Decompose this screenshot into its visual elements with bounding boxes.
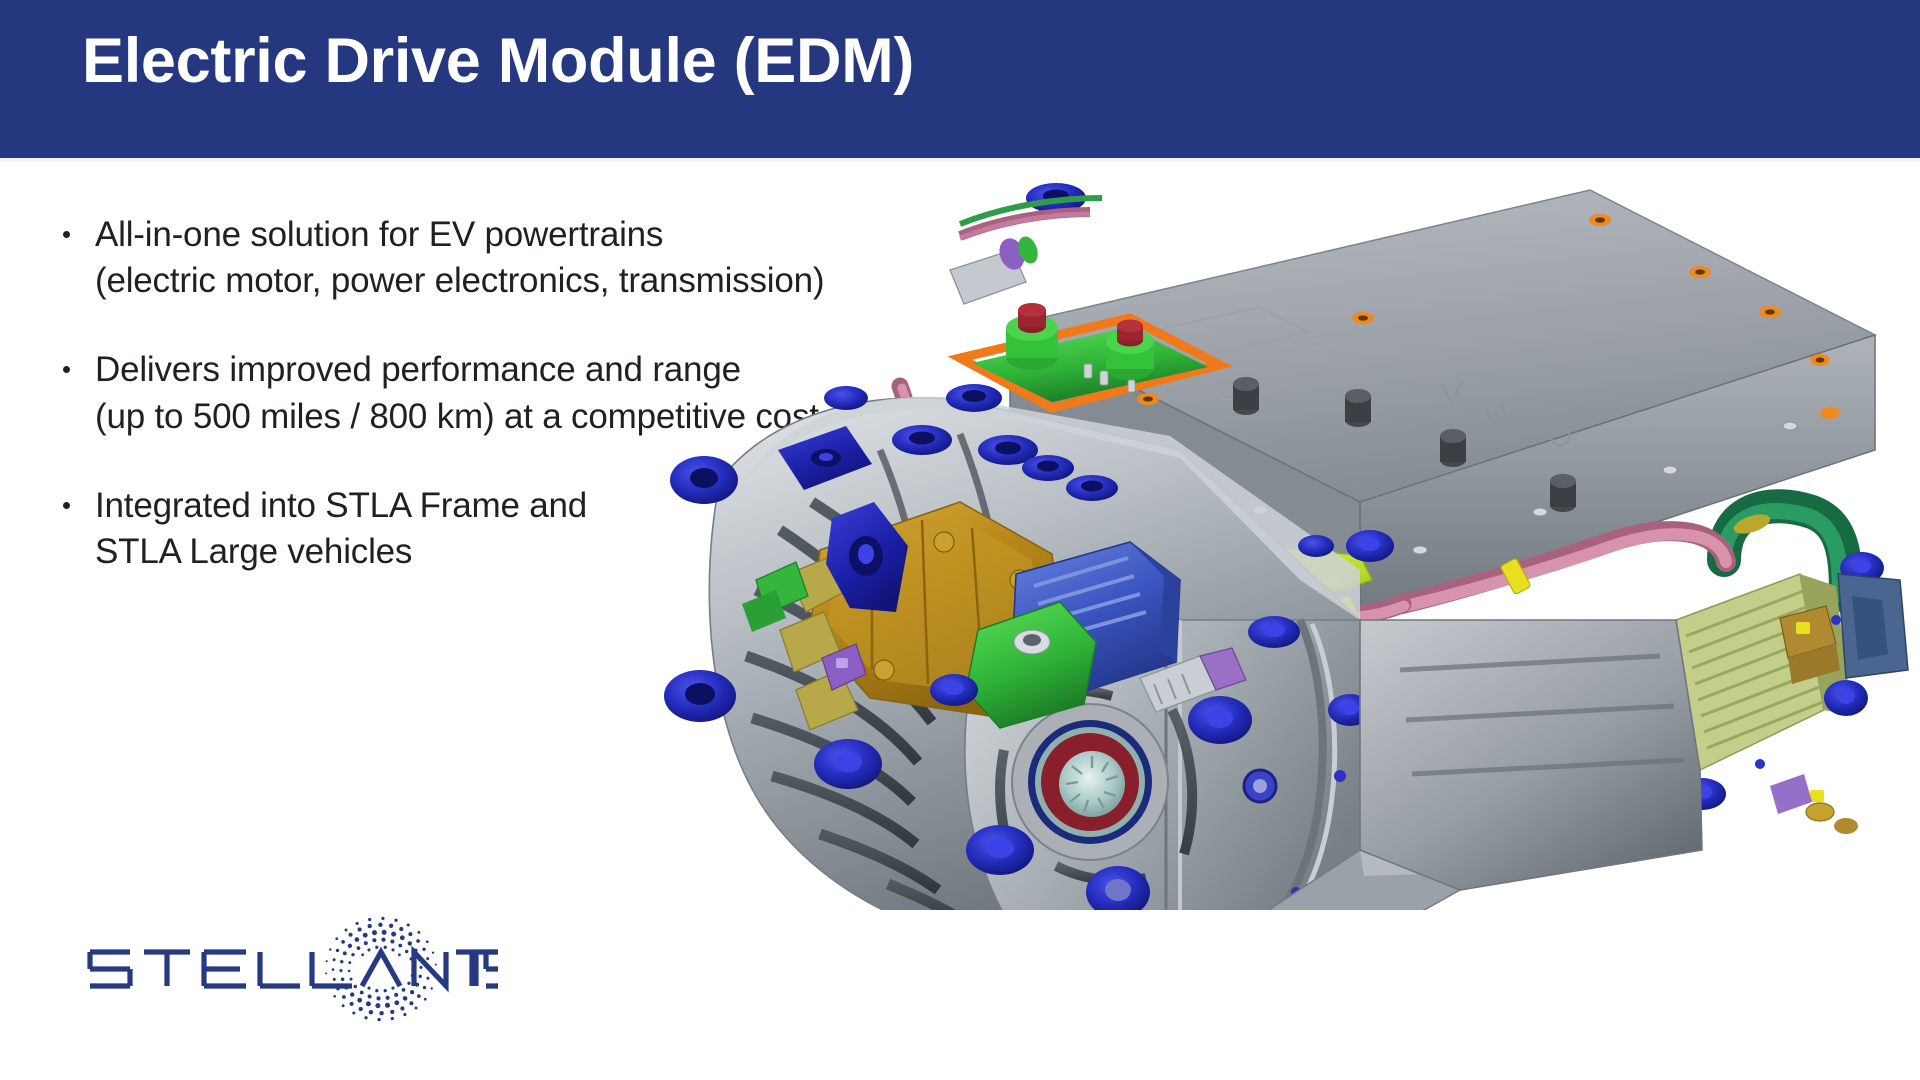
product-render bbox=[660, 150, 1920, 910]
bullet-dot-icon bbox=[63, 502, 70, 509]
misc-fasteners bbox=[1770, 774, 1858, 834]
lower-side-panel bbox=[1360, 620, 1702, 890]
rear-mount-bracket bbox=[1838, 574, 1908, 678]
stellantis-logo-svg bbox=[78, 912, 498, 1032]
bullet-dot-icon bbox=[63, 231, 70, 238]
coolant-port-fittings bbox=[950, 198, 1102, 304]
page-title: Electric Drive Module (EDM) bbox=[82, 28, 914, 94]
output-shaft-flange bbox=[1012, 704, 1168, 860]
logo-wordmark-strokes bbox=[90, 952, 496, 986]
edm-cad-image bbox=[660, 150, 1920, 910]
stellantis-logo bbox=[78, 912, 498, 1032]
bullet-dot-icon bbox=[63, 366, 70, 373]
logo-dot-ring-icon bbox=[325, 917, 437, 1022]
slide-root: Electric Drive Module (EDM) All-in-one s… bbox=[0, 0, 1920, 1080]
